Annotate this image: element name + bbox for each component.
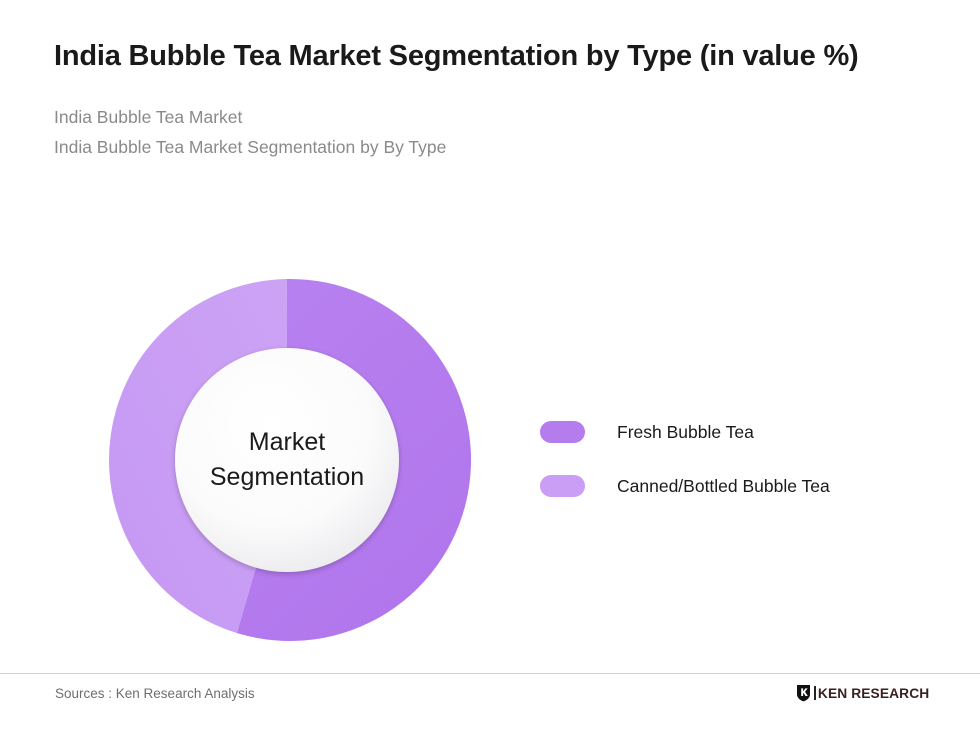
donut-slice-canned-bottled-bubble-tea[interactable]: [109, 279, 287, 633]
logo-divider: [814, 686, 816, 700]
page-title: India Bubble Tea Market Segmentation by …: [54, 38, 899, 76]
footer-divider: [0, 673, 980, 674]
shield-icon: [796, 684, 811, 702]
donut-svg: [106, 279, 468, 641]
donut-center-line-2: Segmentation: [210, 460, 364, 496]
subtitle-block: India Bubble Tea Market India Bubble Tea…: [54, 102, 914, 162]
legend-swatch-canned-bottled-bubble-tea: [540, 475, 585, 497]
chart-legend: Fresh Bubble Tea Canned/Bottled Bubble T…: [540, 414, 940, 522]
subtitle-segmentation: India Bubble Tea Market Segmentation by …: [54, 132, 914, 162]
donut-center-label: Market Segmentation: [106, 279, 468, 641]
slide-canvas: India Bubble Tea Market Segmentation by …: [0, 0, 980, 735]
donut-center-line-1: Market: [249, 425, 325, 461]
legend-item-fresh-bubble-tea[interactable]: Fresh Bubble Tea: [540, 414, 940, 450]
legend-label-canned-bottled-bubble-tea: Canned/Bottled Bubble Tea: [617, 476, 830, 497]
legend-item-canned-bottled-bubble-tea[interactable]: Canned/Bottled Bubble Tea: [540, 468, 940, 504]
chart-header: India Bubble Tea Market Segmentation by …: [54, 38, 914, 162]
ken-research-logo: KEN RESEARCH: [796, 683, 928, 703]
footer-source-text: Sources : Ken Research Analysis: [55, 686, 255, 701]
legend-label-fresh-bubble-tea: Fresh Bubble Tea: [617, 422, 754, 443]
subtitle-market-name: India Bubble Tea Market: [54, 102, 914, 132]
donut-center-disc: [175, 348, 399, 572]
donut-slice-fresh-bubble-tea[interactable]: [237, 279, 471, 641]
legend-swatch-fresh-bubble-tea: [540, 421, 585, 443]
donut-chart: Market Segmentation: [106, 279, 468, 641]
logo-wordmark: KEN RESEARCH: [818, 686, 929, 701]
